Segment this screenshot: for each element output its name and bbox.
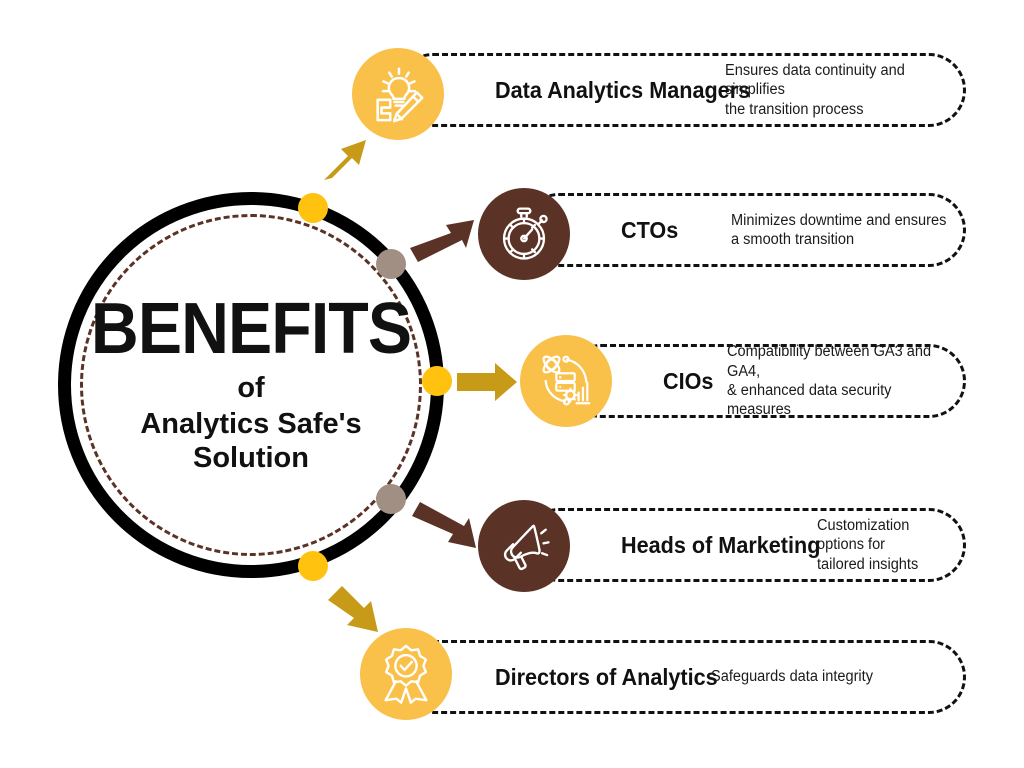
- arrow-right-gold: [457, 361, 519, 403]
- connector-dot-5: [298, 551, 328, 581]
- arrow-up-right-gold: [318, 126, 380, 188]
- connector-dot-1: [298, 193, 328, 223]
- role-label-data-analytics-managers: Data Analytics Managers: [495, 77, 711, 104]
- hub-connector-word: of: [237, 373, 264, 405]
- pill-cios[interactable]: CIOs Compatibility between GA3 and GA4, …: [564, 344, 966, 418]
- pill-directors-of-analytics[interactable]: Directors of Analytics Safeguards data i…: [396, 640, 966, 714]
- megaphone-icon: [478, 500, 570, 592]
- data-server-atom-icon: [520, 335, 612, 427]
- role-description-data-analytics-managers: Ensures data continuity and simplifies t…: [725, 61, 949, 119]
- role-label-ctos: CTOs: [621, 217, 724, 244]
- pill-data-analytics-managers[interactable]: Data Analytics Managers Ensures data con…: [396, 53, 966, 127]
- role-description-heads-of-marketing: Customization options for tailored insig…: [817, 516, 954, 574]
- role-description-cios: Compatibility between GA3 and GA4, & enh…: [727, 342, 949, 420]
- page-title: BENEFITS: [91, 295, 411, 363]
- role-label-heads-of-marketing: Heads of Marketing: [621, 532, 805, 559]
- pill-ctos[interactable]: CTOs Minimizes downtime and ensures a sm…: [522, 193, 966, 267]
- connector-dot-3: [422, 366, 452, 396]
- connector-dot-4: [376, 484, 406, 514]
- stopwatch-icon: [478, 188, 570, 280]
- connector-dot-2: [376, 249, 406, 279]
- arrow-down-right-gold: [324, 584, 388, 650]
- role-description-directors-of-analytics: Safeguards data integrity: [711, 667, 873, 686]
- pill-heads-of-marketing[interactable]: Heads of Marketing Customization options…: [522, 508, 966, 582]
- role-label-directors-of-analytics: Directors of Analytics: [495, 664, 698, 691]
- hub-subtitle: Analytics Safe's Solution: [140, 407, 361, 475]
- infographic-canvas: BENEFITS of Analytics Safe's Solution Da…: [0, 0, 1024, 768]
- role-label-cios: CIOs: [663, 368, 723, 395]
- role-description-ctos: Minimizes downtime and ensures a smooth …: [731, 211, 946, 250]
